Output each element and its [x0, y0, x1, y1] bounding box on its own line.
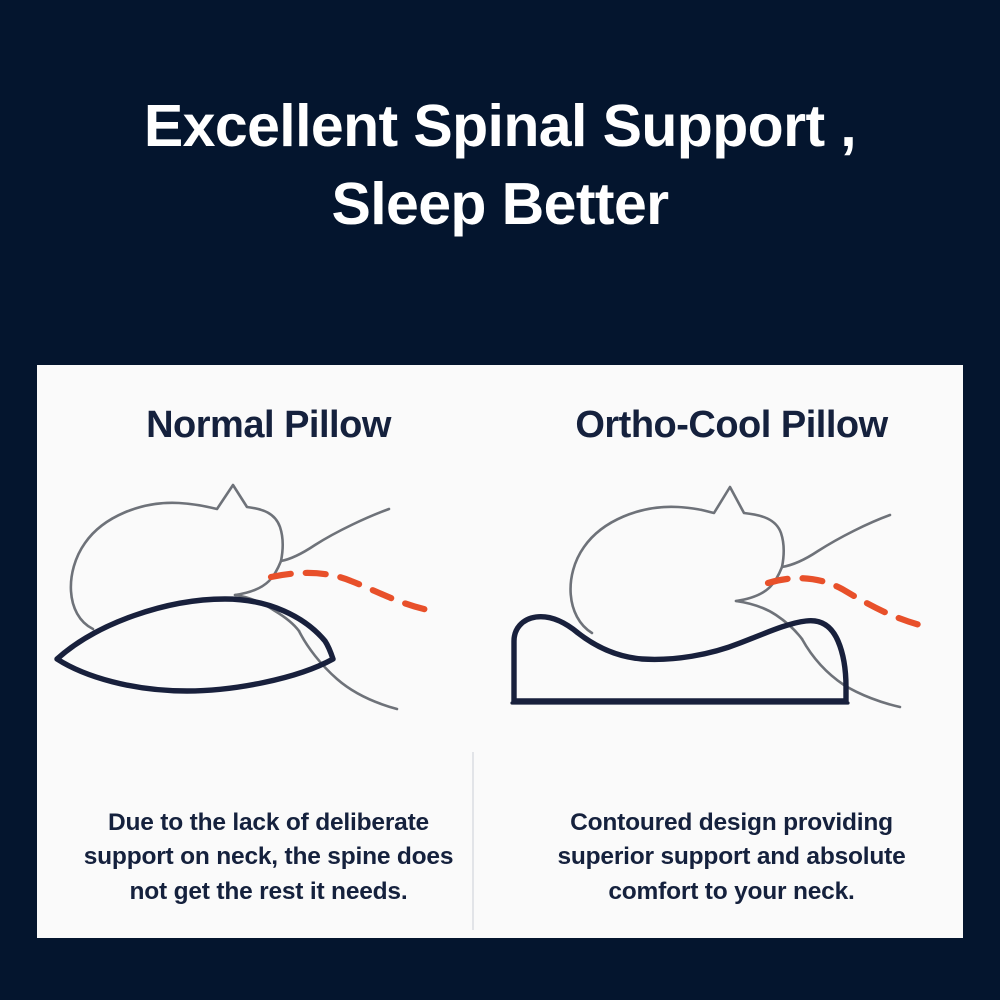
column-divider	[472, 752, 474, 930]
normal-pillow-shape	[57, 599, 333, 691]
page-headline: Excellent Spinal Support , Sleep Better	[0, 88, 1000, 244]
comparison-column-ortho-cool-pillow: Ortho-Cool Pillow	[500, 365, 963, 938]
column-heading-normal-pillow: Normal Pillow	[37, 404, 500, 447]
headline-line-2: Sleep Better	[18, 166, 982, 244]
column-caption-ortho-cool-pillow: Contoured design providing superior supp…	[500, 806, 963, 910]
spine-alignment-dashed-line	[768, 578, 920, 625]
headline-line-1: Excellent Spinal Support ,	[18, 88, 982, 166]
column-heading-ortho-cool-pillow: Ortho-Cool Pillow	[500, 404, 963, 447]
column-caption-normal-pillow: Due to the lack of deliberate support on…	[37, 806, 500, 910]
spine-alignment-dashed-line	[271, 573, 433, 611]
comparison-column-normal-pillow: Normal Pillow Due to the lack	[37, 365, 500, 938]
ortho-cool-pillow-shape	[514, 617, 846, 701]
ortho-cool-pillow-illustration	[500, 465, 963, 735]
comparison-card: Normal Pillow Due to the lack	[37, 365, 963, 938]
normal-pillow-illustration	[37, 465, 500, 735]
comparison-columns: Normal Pillow Due to the lack	[37, 365, 963, 938]
